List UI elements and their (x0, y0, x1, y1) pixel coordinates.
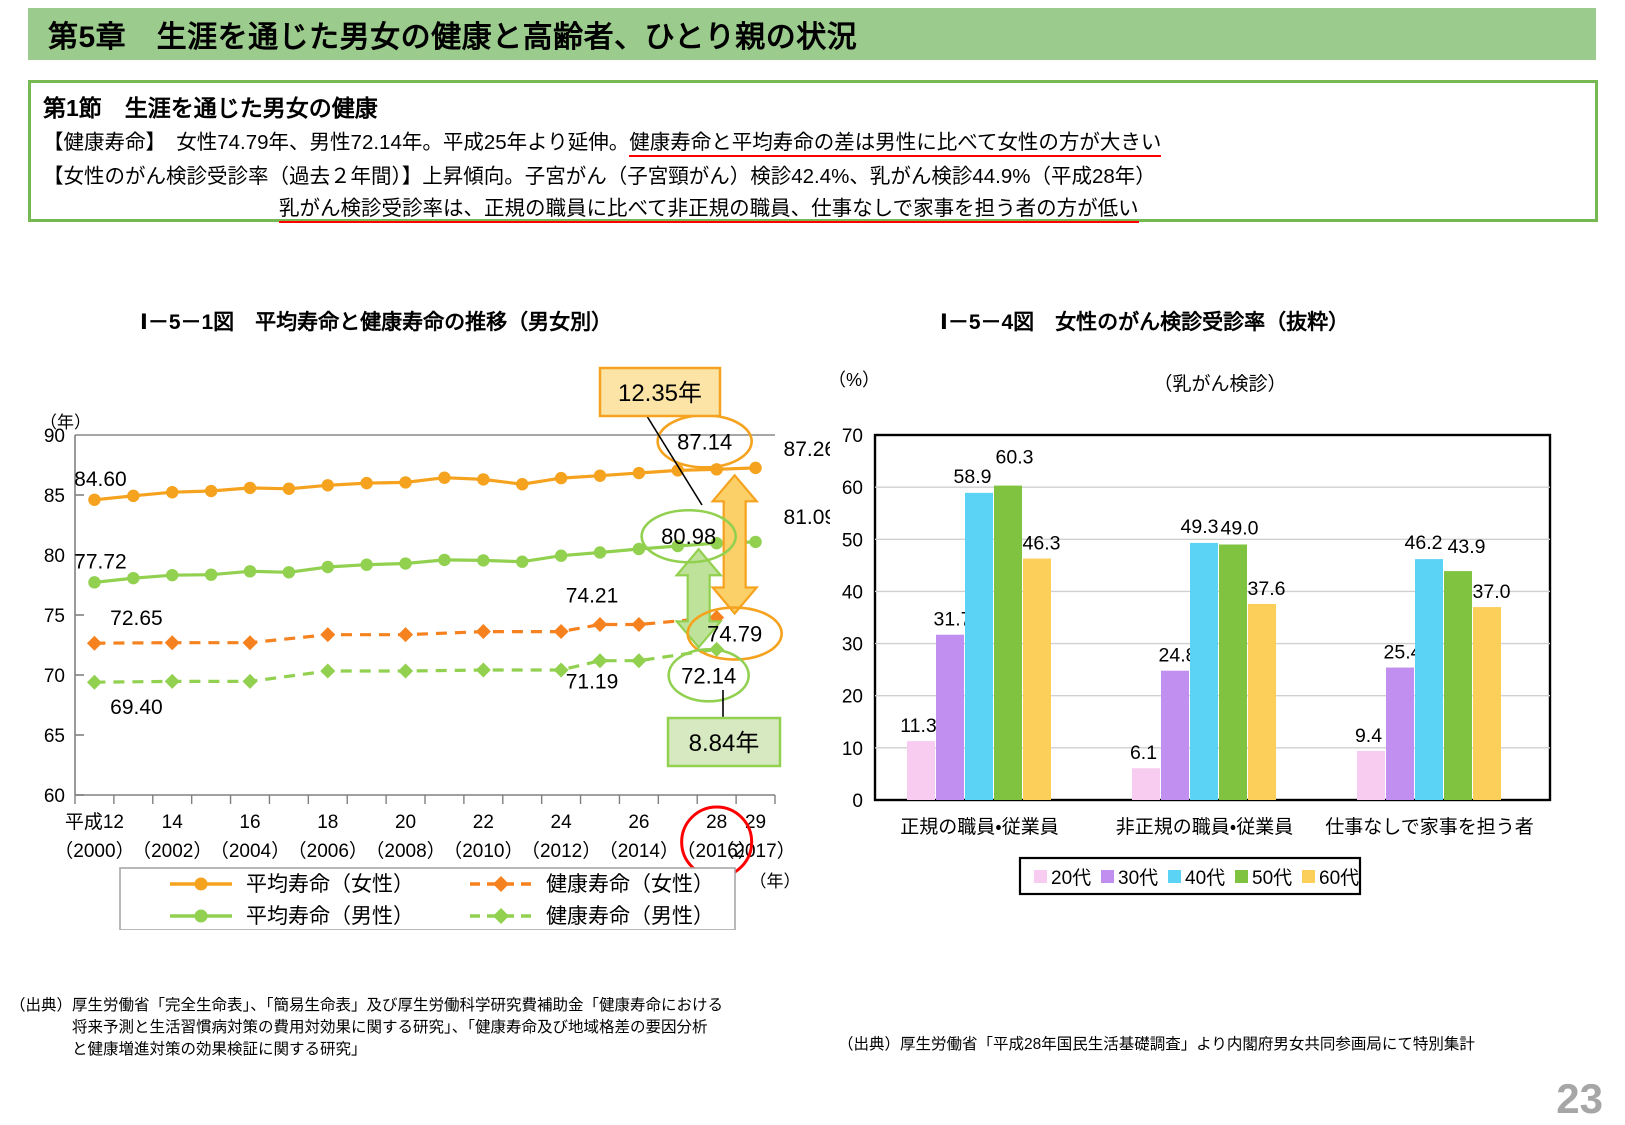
life-expectancy-line-chart: （年）60657075808590平成12141618202224262829（… (0, 350, 830, 930)
data-point (243, 635, 258, 650)
x-tick-label-era: 22 (473, 812, 494, 833)
data-point (593, 617, 608, 632)
legend-label: 20代 (1051, 867, 1091, 889)
legend-label: 健康寿命（女性） (546, 873, 714, 896)
bar (1219, 545, 1247, 801)
data-point (166, 486, 178, 498)
bar (1473, 607, 1501, 800)
x-tick-label-era: 24 (551, 812, 573, 833)
x-tick-label-era: 16 (239, 812, 260, 833)
data-point (87, 675, 102, 690)
data-label: 69.40 (110, 696, 163, 719)
x-tick-label-year: （2002） (132, 840, 212, 862)
data-point (360, 559, 372, 571)
y-tick-label: 40 (842, 582, 863, 603)
data-point (398, 627, 413, 642)
legend-label: 30代 (1118, 867, 1158, 889)
data-label: 87.14 (677, 429, 732, 454)
data-point (516, 478, 528, 490)
right-chart-source: （出典）厚生労働省「平成28年国民生活基礎調査」より内閣府男女共同参画局にて特別… (838, 1034, 1475, 1056)
bar (1132, 768, 1160, 800)
data-point (166, 569, 178, 581)
data-point (399, 557, 411, 569)
data-label: 71.19 (566, 671, 619, 694)
bar (1415, 559, 1443, 800)
left-chart-source: （出典）厚生労働省「完全生命表」、「簡易生命表」及び厚生労働科学研究費補助金「健… (10, 995, 723, 1061)
section-line-3-underlined: 乳がん検診受診率は、正規の職員に比べて非正規の職員、仕事なしで家事を担う者の方が… (279, 197, 1139, 223)
category-label: 非正規の職員・従業員 (1116, 816, 1293, 838)
data-point (633, 467, 645, 479)
callout-leader-line (645, 413, 702, 505)
legend-swatch (1034, 870, 1047, 883)
y-tick-label: 80 (44, 546, 65, 567)
section-line-1-plain: 【健康寿命】 女性74.79年、男性72.14年。平成25年より延伸。 (43, 131, 629, 154)
x-tick-label-era: 平成12 (65, 811, 124, 833)
data-point (593, 653, 608, 668)
x-tick-label-year: （2004） (210, 840, 290, 862)
y-tick-label: 0 (852, 791, 863, 812)
bar (1386, 668, 1414, 800)
section-title: 第1節 生涯を通じた男女の健康 (43, 89, 378, 123)
x-tick-label-era: 18 (317, 812, 338, 833)
x-tick-label-year: （2017） (715, 840, 795, 862)
data-point (555, 550, 567, 562)
chapter-title: 第5章 生涯を通じた男女の健康と高齢者、ひとり親の状況 (28, 12, 857, 56)
y-tick-label: 60 (842, 478, 863, 499)
legend-label: 平均寿命（男性） (246, 905, 414, 928)
y-tick-label: 10 (842, 739, 863, 760)
x-tick-label-year: （2014） (599, 840, 679, 862)
category-label: 正規の職員・従業員 (900, 816, 1058, 838)
right-chart-subtitle: （乳がん検診） (1153, 373, 1286, 395)
data-point (749, 536, 761, 548)
series-line-平均寿命（男性） (94, 542, 755, 583)
right-y-unit: （%） (828, 370, 880, 390)
data-point (360, 477, 372, 489)
data-point (555, 472, 567, 484)
left-chart-legend: 平均寿命（女性）健康寿命（女性）平均寿命（男性）健康寿命（男性） (120, 868, 735, 930)
data-label: 77.72 (74, 550, 127, 573)
bar (1161, 671, 1189, 800)
section-line-1: 【健康寿命】 女性74.79年、男性72.14年。平成25年より延伸。健康寿命と… (43, 125, 1161, 155)
right-chart-legend: 20代30代40代50代60代 (1020, 858, 1360, 894)
legend-swatch (1235, 870, 1248, 883)
data-point (243, 674, 258, 689)
data-label: 74.21 (566, 584, 619, 607)
y-tick-label: 70 (842, 426, 863, 447)
data-point (165, 674, 180, 689)
bar-value-label: 9.4 (1355, 725, 1382, 747)
bar (1023, 559, 1051, 800)
data-point (438, 554, 450, 566)
legend-marker (195, 910, 208, 923)
data-point (244, 482, 256, 494)
bar-value-label: 58.9 (954, 466, 992, 488)
series-line-平均寿命（女性） (94, 468, 755, 500)
data-label: 74.79 (707, 622, 762, 647)
y-tick-label: 50 (842, 530, 863, 551)
data-point (165, 635, 180, 650)
data-point (205, 568, 217, 580)
data-point (749, 462, 761, 474)
x-tick-label-era: 20 (395, 812, 416, 833)
x-tick-label-era: 28 (706, 812, 727, 833)
data-point (476, 624, 491, 639)
callout-label-male: 8.84年 (689, 730, 760, 757)
bar (1444, 571, 1472, 800)
section-line-1-underlined: 健康寿命と平均寿命の差は男性に比べて女性の方が大きい (629, 131, 1161, 157)
x-tick-label-era: 26 (628, 812, 649, 833)
chapter-header-bar: 第5章 生涯を通じた男女の健康と高齢者、ひとり親の状況 (28, 8, 1596, 60)
data-point (594, 546, 606, 558)
bar-value-label: 46.3 (1023, 533, 1061, 555)
bar (994, 486, 1022, 800)
data-point (283, 566, 295, 578)
bar-value-label: 43.9 (1448, 536, 1486, 558)
section-line-3: 乳がん検診受診率は、正規の職員に比べて非正規の職員、仕事なしで家事を担う者の方が… (279, 191, 1139, 221)
callout-label-female: 12.35年 (618, 380, 702, 407)
bar-value-label: 49.0 (1221, 518, 1259, 540)
bar (965, 493, 993, 800)
bar (1190, 543, 1218, 800)
y-tick-label: 90 (44, 426, 65, 447)
bar (1248, 604, 1276, 800)
data-point (631, 617, 646, 632)
data-label: 84.60 (74, 468, 127, 491)
bar (1357, 751, 1385, 800)
legend-swatch (1168, 870, 1181, 883)
right-chart-title: Ⅰ－5－4図 女性のがん検診受診率（抜粋） (940, 306, 1349, 336)
bar-value-label: 49.3 (1181, 516, 1219, 538)
legend-label: 50代 (1252, 867, 1292, 889)
legend-label: 平均寿命（女性） (246, 873, 414, 896)
data-point (399, 476, 411, 488)
category-label: 仕事なしで家事を担う者 (1325, 816, 1533, 838)
data-point (594, 469, 606, 481)
bar-value-label: 37.6 (1248, 578, 1286, 600)
left-chart-title: Ⅰ－5－1図 平均寿命と健康寿命の推移（男女別） (140, 306, 612, 336)
data-point (322, 479, 334, 491)
legend-swatch (1101, 870, 1114, 883)
legend-marker (195, 878, 208, 891)
y-tick-label: 60 (44, 786, 65, 807)
data-point (244, 565, 256, 577)
bar (907, 741, 935, 800)
data-label: 72.65 (110, 607, 163, 630)
data-point (283, 483, 295, 495)
bar-value-label: 6.1 (1130, 742, 1157, 764)
x-tick-label-year: （2008） (365, 840, 445, 862)
x-tick-label-year: （2012） (521, 840, 601, 862)
page-number: 23 (1556, 1075, 1603, 1123)
bar (936, 635, 964, 800)
y-tick-label: 70 (44, 666, 65, 687)
data-point (88, 494, 100, 506)
data-point (88, 576, 100, 588)
data-point (127, 490, 139, 502)
data-label: 80.98 (661, 524, 716, 549)
left-x-unit: （年） (750, 872, 801, 891)
data-point (477, 473, 489, 485)
data-point (398, 664, 413, 679)
x-tick-label-year: （2010） (443, 840, 523, 862)
legend-label: 健康寿命（男性） (546, 905, 714, 928)
breast-cancer-screening-bar-chart: （%）（乳がん検診）01020304050607011.331.758.960.… (820, 350, 1620, 910)
bar-value-label: 60.3 (996, 447, 1034, 469)
data-point (438, 472, 450, 484)
legend-label: 60代 (1319, 867, 1359, 889)
y-tick-label: 65 (44, 726, 65, 747)
bar-value-label: 11.3 (900, 715, 937, 737)
data-point (205, 485, 217, 497)
section-line-2: 【女性のがん検診受診率（過去２年間）】上昇傾向。子宮がん（子宮頸がん）検診42.… (43, 159, 1156, 189)
y-tick-label: 30 (842, 635, 863, 656)
bar-value-label: 37.0 (1473, 581, 1511, 603)
y-tick-label: 20 (842, 687, 863, 708)
data-point (320, 664, 335, 679)
x-tick-label-year: （2000） (54, 840, 134, 862)
legend-label: 40代 (1185, 867, 1225, 889)
data-point (477, 554, 489, 566)
data-point (127, 572, 139, 584)
legend-swatch (1302, 870, 1315, 883)
data-label: 72.14 (681, 663, 736, 688)
data-point (516, 556, 528, 568)
data-point (631, 653, 646, 668)
y-tick-label: 75 (44, 606, 65, 627)
data-point (554, 624, 569, 639)
x-tick-label-year: （2006） (288, 840, 368, 862)
data-point (476, 662, 491, 677)
section-summary-box: 第1節 生涯を通じた男女の健康 【健康寿命】 女性74.79年、男性72.14年… (28, 80, 1598, 222)
data-point (322, 561, 334, 573)
data-point (320, 627, 335, 642)
y-tick-label: 85 (44, 486, 65, 507)
bar-value-label: 46.2 (1405, 532, 1443, 554)
data-point (87, 636, 102, 651)
x-tick-label-era: 14 (162, 812, 184, 833)
